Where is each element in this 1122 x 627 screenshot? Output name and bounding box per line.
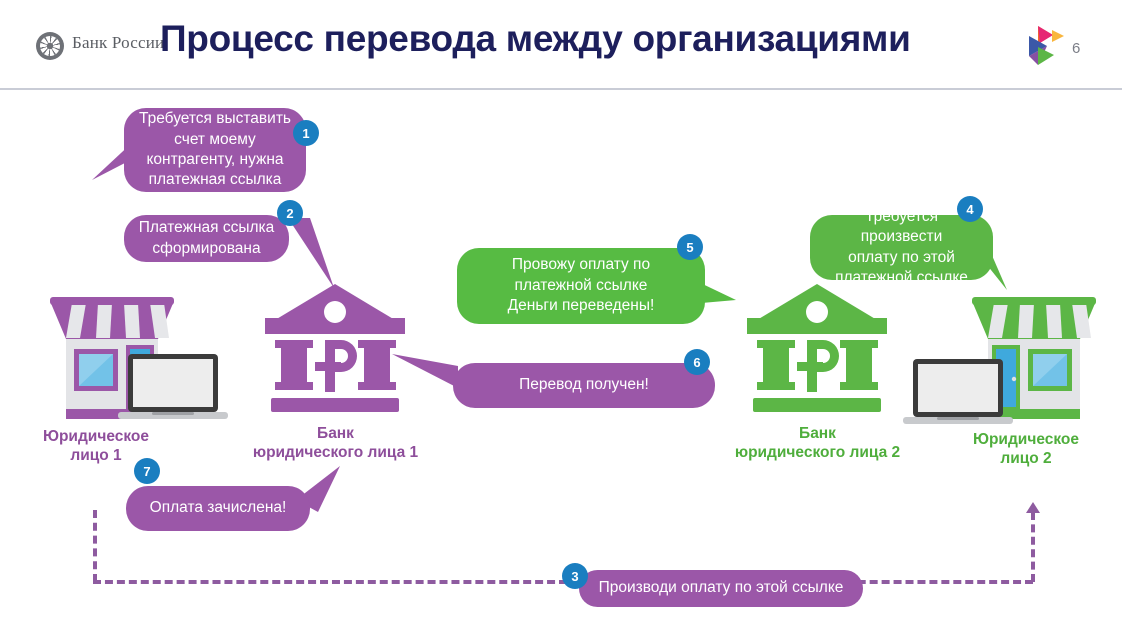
bubble-1-line-1: Требуется выставить xyxy=(139,109,291,129)
node-label-bank-1: Банк юридического лица 1 xyxy=(224,424,447,463)
node-label-legal-entity-2-line-2: лицо 2 xyxy=(952,449,1100,468)
badge-7: 7 xyxy=(134,458,160,484)
bubble-5: Провожу оплату по платежной ссылке Деньг… xyxy=(457,248,705,324)
badge-3: 3 xyxy=(562,563,588,589)
node-label-bank-1-line-2: юридического лица 1 xyxy=(224,443,447,462)
badge-6: 6 xyxy=(684,349,710,375)
bubble-1-line-4: платежная ссылка xyxy=(139,170,291,190)
bubble-2-tail xyxy=(286,216,356,301)
cbr-emblem-icon xyxy=(36,32,64,60)
bubble-6-line-1: Перевод получен! xyxy=(519,375,649,395)
bank-name-label: Банк России xyxy=(72,33,164,53)
node-label-bank-1-line-1: Банк xyxy=(224,424,447,443)
sbp-arrows-icon xyxy=(1026,24,1066,66)
bubble-6-tail xyxy=(392,350,462,399)
header-divider xyxy=(0,88,1122,90)
bank-icon-bank-2 xyxy=(745,282,890,418)
bubble-4: Требуется произвести оплату по этой плат… xyxy=(810,215,993,280)
bank-icon-bank-1 xyxy=(263,282,408,418)
bubble-4-line-1: Требуется произвести xyxy=(824,207,979,248)
bubble-7: Оплата зачислена! xyxy=(126,486,310,531)
slide-header: Банк России Процесс перевода между орган… xyxy=(0,0,1122,89)
bubble-2-line-2: сформирована xyxy=(139,239,275,259)
bubble-1-line-3: контрагенту, нужна xyxy=(139,150,291,170)
bubble-7-line-1: Оплата зачислена! xyxy=(150,498,287,518)
bubble-6: Перевод получен! xyxy=(453,363,715,408)
badge-2: 2 xyxy=(277,200,303,226)
bubble-3-line-1: Производи оплату по этой ссылке xyxy=(599,578,844,598)
page-number: 6 xyxy=(1072,40,1080,57)
badge-1: 1 xyxy=(293,120,319,146)
laptop-icon-legal-entity-2 xyxy=(903,357,1013,434)
bubble-2-line-1: Платежная ссылка xyxy=(139,218,275,238)
bubble-4-line-2: оплату по этой xyxy=(824,248,979,268)
badge-4: 4 xyxy=(957,196,983,222)
node-label-bank-2-line-1: Банк xyxy=(706,424,929,443)
bubble-5-line-2: платежной ссылке xyxy=(508,276,655,296)
bubble-2: Платежная ссылка сформирована xyxy=(124,215,289,262)
bubble-1: Требуется выставить счет моему контраген… xyxy=(124,108,306,192)
laptop-icon-legal-entity-1 xyxy=(118,352,228,429)
node-label-bank-2-line-2: юридического лица 2 xyxy=(706,443,929,462)
flow-dash-left-vertical xyxy=(93,510,97,582)
node-label-legal-entity-1-line-1: Юридическое xyxy=(22,427,170,446)
slide-canvas: Банк России Процесс перевода между орган… xyxy=(0,0,1122,627)
bubble-3: Производи оплату по этой ссылке xyxy=(579,570,863,607)
badge-5: 5 xyxy=(677,234,703,260)
bubble-4-line-3: платежной ссылке xyxy=(824,268,979,288)
bubble-5-line-1: Провожу оплату по xyxy=(508,255,655,275)
node-label-legal-entity-2: Юридическое лицо 2 xyxy=(952,430,1100,469)
bubble-1-line-2: счет моему xyxy=(139,130,291,150)
node-label-bank-2: Банк юридического лица 2 xyxy=(706,424,929,463)
flow-dash-right-vertical xyxy=(1031,512,1035,582)
flow-arrowhead-icon xyxy=(1026,502,1040,513)
page-title: Процесс перевода между организациями xyxy=(160,18,911,60)
bubble-5-line-3: Деньги переведены! xyxy=(508,296,655,316)
